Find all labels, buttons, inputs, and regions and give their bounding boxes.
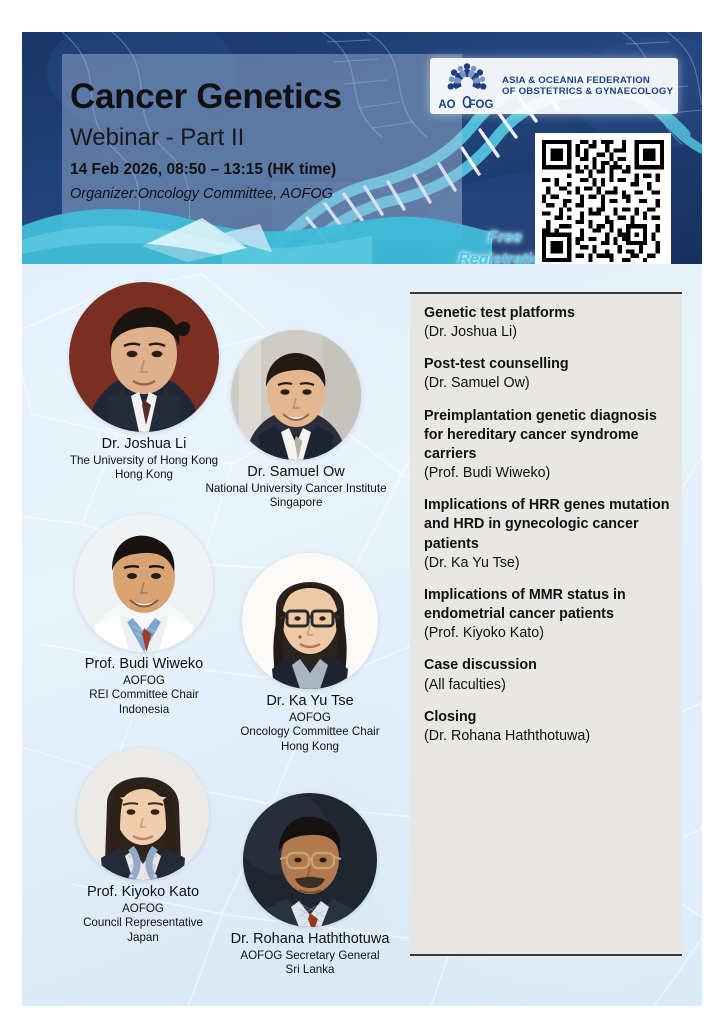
- speaker-card: Dr. Ka Yu Tse AOFOG Oncology Committee C…: [210, 553, 410, 754]
- program-speaker: (Prof. Budi Wiweko): [424, 464, 670, 483]
- speaker-affiliation: National University Cancer Institute: [186, 482, 406, 496]
- speaker-org: AOFOG: [210, 711, 410, 725]
- poster-header: Cancer Genetics Webinar - Part II 14 Feb…: [22, 32, 702, 264]
- program-topic: Genetic test platforms: [424, 304, 670, 323]
- portrait-samuel-ow: [231, 330, 361, 460]
- program-panel: Genetic test platforms (Dr. Joshua Li) P…: [410, 292, 682, 956]
- program-topic: Preimplantation genetic diagnosis for he…: [424, 407, 670, 464]
- program-item: Implications of MMR status in endometria…: [424, 586, 670, 643]
- event-datetime: 14 Feb 2026, 08:50 – 13:15 (HK time): [70, 161, 490, 180]
- page-subtitle: Webinar - Part II: [70, 124, 490, 152]
- speaker-country: Singapore: [186, 496, 406, 510]
- program-topic: Closing: [424, 708, 670, 727]
- program-speaker: (Dr. Rohana Haththotuwa): [424, 727, 670, 746]
- aofog-people-circle-icon: AO FOG: [436, 61, 498, 111]
- program-topic: Case discussion: [424, 656, 670, 675]
- speaker-name: Dr. Ka Yu Tse: [210, 693, 410, 711]
- program-topic: Implications of MMR status in endometria…: [424, 586, 670, 624]
- portrait-budi-wiweko: [75, 514, 213, 652]
- program-topic: Post-test counselling: [424, 355, 670, 374]
- program-speaker: (Dr. Joshua Li): [424, 323, 670, 342]
- program-speaker: (All faculties): [424, 676, 670, 695]
- logo-acronym-left: AO: [438, 99, 455, 111]
- portrait-kiyoko-kato: [77, 748, 209, 880]
- logo-acronym-right: FOG: [469, 99, 494, 111]
- speaker-country: Sri Lanka: [205, 963, 415, 977]
- poster-canvas: Cancer Genetics Webinar - Part II 14 Feb…: [0, 0, 724, 1024]
- program-item: Case discussion (All faculties): [424, 656, 670, 694]
- portrait-ka-yu-tse: [242, 553, 378, 689]
- program-speaker: (Prof. Kiyoko Kato): [424, 624, 670, 643]
- speaker-card: Dr. Samuel Ow National University Cancer…: [186, 330, 406, 511]
- event-organizer: Organizer:Oncology Committee, AOFOG: [70, 186, 490, 203]
- speaker-role: AOFOG Secretary General: [205, 949, 415, 963]
- page-title: Cancer Genetics: [70, 78, 490, 115]
- qr-code-icon[interactable]: [535, 133, 671, 264]
- aofog-logo: AO FOG ASIA & OCEANIA FEDERATION OF OBST…: [430, 58, 678, 114]
- speaker-name: Dr. Samuel Ow: [186, 464, 406, 482]
- speaker-name: Dr. Rohana Haththotuwa: [205, 931, 415, 949]
- program-item: Closing (Dr. Rohana Haththotuwa): [424, 708, 670, 746]
- program-topic: Implications of HRR genes mutation and H…: [424, 496, 670, 553]
- logo-text-line2: OF OBSTETRICS & GYNAECOLOGY: [502, 86, 673, 97]
- portrait-rohana-haththotuwa: [243, 793, 377, 927]
- header-content: Cancer Genetics Webinar - Part II 14 Feb…: [70, 78, 490, 204]
- speaker-role: Oncology Committee Chair: [210, 725, 410, 739]
- logo-text-line1: ASIA & OCEANIA FEDERATION: [502, 75, 673, 86]
- program-item: Post-test counselling (Dr. Samuel Ow): [424, 355, 670, 393]
- program-item: Genetic test platforms (Dr. Joshua Li): [424, 304, 670, 342]
- program-item: Preimplantation genetic diagnosis for he…: [424, 407, 670, 484]
- program-speaker: (Dr. Samuel Ow): [424, 374, 670, 393]
- program-speaker: (Dr. Ka Yu Tse): [424, 554, 670, 573]
- program-item: Implications of HRR genes mutation and H…: [424, 496, 670, 573]
- speaker-card: Dr. Rohana Haththotuwa AOFOG Secretary G…: [205, 793, 415, 978]
